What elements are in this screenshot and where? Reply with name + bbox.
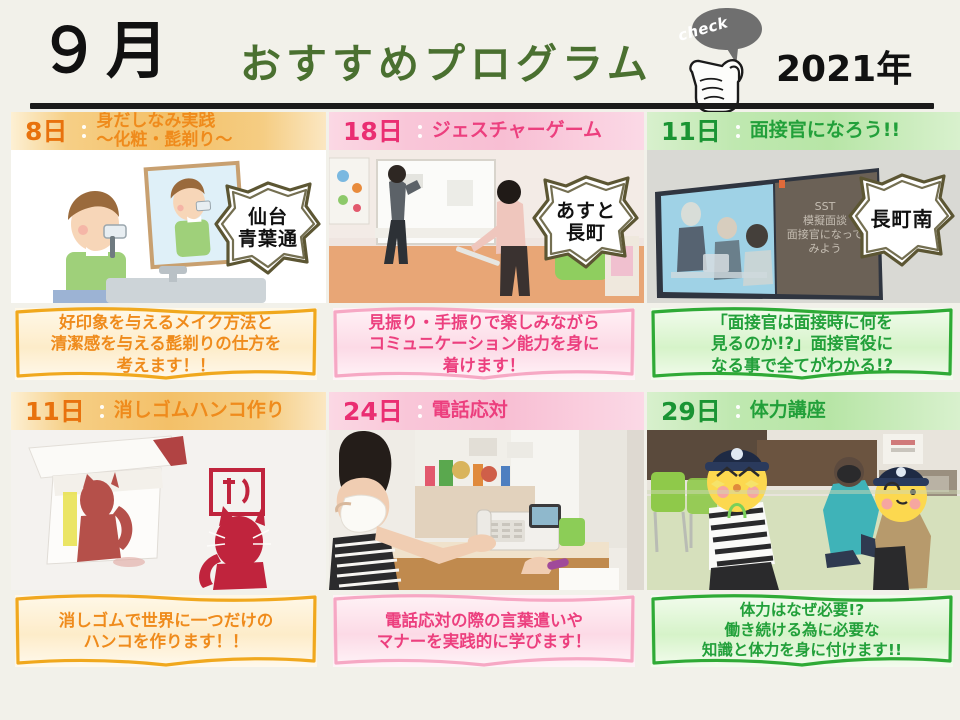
card-caption-wrap: 電話応対の際の言葉遣いや マナーを実践的に学びます！ (329, 595, 644, 671)
svg-text:模擬面談: 模擬面談 (803, 213, 847, 227)
card-caption: 「面接官は面接時に何を 見るのか!?」面接官役に なる事で全てがわかる!? (651, 308, 953, 380)
card-caption-wrap: 消しゴムで世界に一つだけの ハンコを作ります！！ (11, 595, 326, 671)
card-caption-wrap: 「面接官は面接時に何を 見るのか!?」面接官役に なる事で全てがわかる!? (647, 308, 960, 386)
card-caption-wrap: 好印象を与えるメイク方法と 清潔感を与える髭剃りの仕方を 考えます！！ (11, 308, 326, 386)
card-day: 11日 (25, 399, 85, 424)
card-caption-text: 好印象を与えるメイク方法と 清潔感を与える髭剃りの仕方を 考えます！！ (51, 312, 282, 375)
card-caption-text: 電話応対の際の言葉遣いや マナーを実践的に学びます！ (377, 610, 592, 652)
card-day: 24日 (343, 399, 403, 424)
card-photo (11, 430, 326, 590)
page-title-year: 2021年 (776, 52, 912, 88)
card-caption-wrap: 見振り・手振りで楽しみながら コミュニケーション能力を身に 着けます！ (329, 308, 644, 386)
card-header-band: 11日 消しゴムハンコ作り (11, 392, 326, 430)
svg-text:みよう: みよう (809, 242, 842, 255)
program-card-grid: 8日 身だしなみ実践 〜化粧・髭剃り〜 (0, 112, 960, 671)
program-card[interactable]: 29日 体力講座 (647, 392, 960, 671)
card-day: 8日 (25, 119, 67, 144)
card-title: 消しゴムハンコ作り (114, 401, 285, 421)
page-title-month: ９月 (38, 20, 174, 82)
card-caption-text: 見振り・手振りで楽しみながら コミュニケーション能力を身に 着けます！ (369, 312, 600, 375)
woman-answering-office-telephone-photo (329, 430, 644, 590)
svg-text:SST: SST (815, 200, 836, 213)
card-title: 身だしなみ実践 〜化粧・髭剃り〜 (96, 112, 232, 150)
card-caption-text: 体力はなぜ必要!? 働き続ける為に必要な 知識と体力を身に付けます!! (702, 601, 902, 660)
card-header-band: 29日 体力講座 (647, 392, 960, 430)
dots-separator-icon (95, 405, 109, 418)
poster-header: ９月 おすすめプログラム check 2021年 (0, 0, 960, 112)
eraser-stamp-cat-carving-photo (11, 430, 326, 590)
card-photo (329, 430, 644, 590)
location-badge-label: 長町南 (848, 172, 956, 268)
card-title: 電話応対 (432, 401, 508, 421)
card-photo: 仙台 青葉通 (11, 150, 326, 303)
program-card[interactable]: 24日 電話応対 (329, 392, 644, 671)
location-badge: あすと 長町 (532, 174, 640, 270)
card-photo (647, 430, 960, 590)
location-badge-label: 仙台 青葉通 (214, 180, 322, 276)
program-card[interactable]: 18日 ジェスチャーゲーム (329, 112, 644, 386)
card-caption: 好印象を与えるメイク方法と 清潔感を与える髭剃りの仕方を 考えます！！ (15, 308, 317, 380)
card-title: 面接官になろう!! (750, 121, 900, 141)
card-title: ジェスチャーゲーム (432, 121, 602, 141)
card-caption-text: 消しゴムで世界に一つだけの ハンコを作ります！！ (59, 610, 274, 652)
location-badge: 仙台 青葉通 (214, 180, 322, 276)
card-day: 29日 (661, 399, 721, 424)
page-subtitle: おすすめプログラム (240, 44, 653, 85)
card-caption-wrap: 体力はなぜ必要!? 働き続ける為に必要な 知識と体力を身に付けます!! (647, 595, 960, 671)
dots-separator-icon (731, 125, 745, 138)
card-header-band: 11日 面接官になろう!! (647, 112, 960, 150)
program-card[interactable]: 8日 身だしなみ実践 〜化粧・髭剃り〜 (11, 112, 326, 386)
dots-separator-icon (413, 125, 427, 138)
card-caption: 見振り・手振りで楽しみながら コミュニケーション能力を身に 着けます！ (333, 308, 635, 380)
card-caption: 電話応対の際の言葉遣いや マナーを実践的に学びます！ (333, 595, 635, 667)
card-day: 11日 (661, 119, 721, 144)
card-photo: あすと 長町 (329, 150, 644, 303)
card-title: 体力講座 (750, 401, 826, 421)
card-caption: 消しゴムで世界に一つだけの ハンコを作ります！！ (15, 595, 317, 667)
location-badge-label: あすと 長町 (532, 174, 640, 270)
poster-root: ９月 おすすめプログラム check 2021年 8日 身だしなみ実践 〜化粧・… (0, 0, 960, 720)
card-header-band: 18日 ジェスチャーゲーム (329, 112, 644, 150)
card-header-band: 24日 電話応対 (329, 392, 644, 430)
program-card[interactable]: 11日 消しゴムハンコ作り (11, 392, 326, 671)
program-card[interactable]: 11日 面接官になろう!! (647, 112, 960, 386)
dots-separator-icon (77, 125, 91, 138)
card-caption: 体力はなぜ必要!? 働き続ける為に必要な 知識と体力を身に付けます!! (651, 595, 953, 667)
dots-separator-icon (731, 405, 745, 418)
dots-separator-icon (413, 405, 427, 418)
header-divider (30, 103, 934, 109)
card-caption-text: 「面接官は面接時に何を 見るのか!?」面接官役に なる事で全てがわかる!? (711, 312, 893, 375)
card-day: 18日 (343, 119, 403, 144)
check-pointer-graphic: check (668, 8, 788, 108)
card-photo: SST 模擬面談 面接官になって みよう 長町南 (647, 150, 960, 303)
card-header-band: 8日 身だしなみ実践 〜化粧・髭剃り〜 (11, 112, 326, 150)
exercise-session-with-face-stickers-photo (647, 430, 960, 590)
location-badge: 長町南 (848, 172, 956, 268)
